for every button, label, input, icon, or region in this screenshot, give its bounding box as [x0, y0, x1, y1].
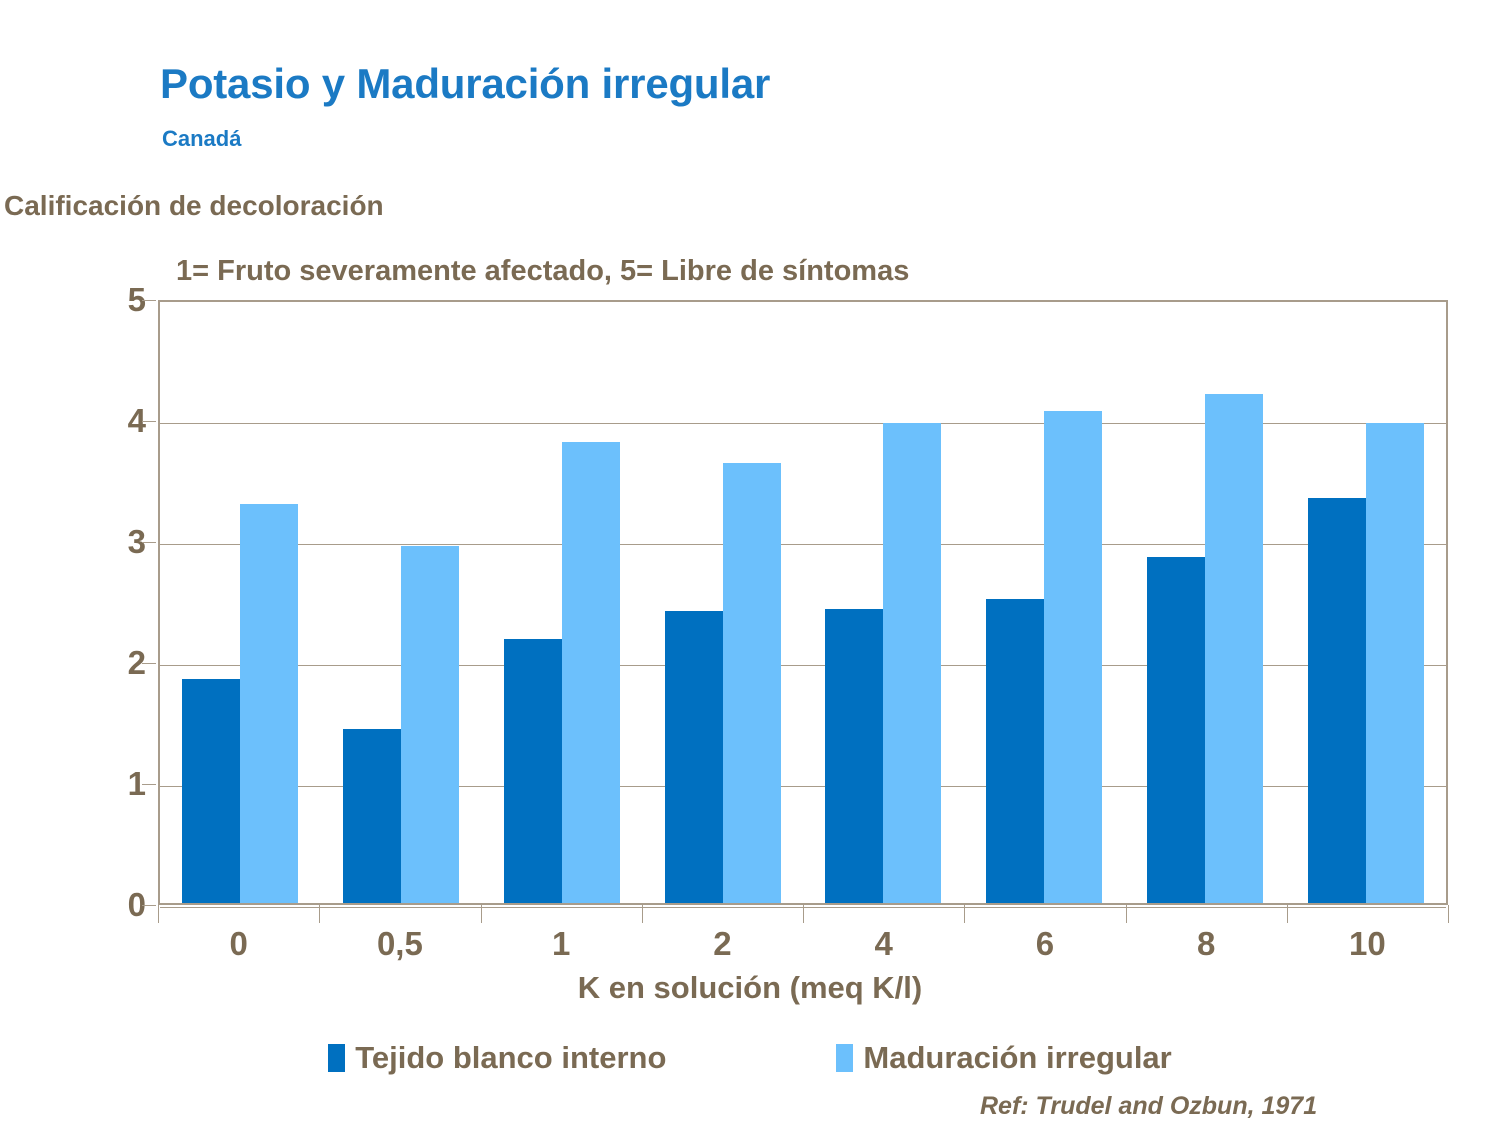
chart-slide: Potasio y Maduración irregular Canadá Ca… — [0, 0, 1500, 1126]
y-tick-label: 5 — [92, 281, 146, 319]
x-tick-mark — [964, 905, 965, 923]
page-subtitle: Canadá — [162, 126, 241, 152]
y-axis-labels: 543210 — [88, 300, 146, 905]
x-axis-title: K en solución (meq K/l) — [0, 970, 1500, 1006]
x-tick-mark — [319, 905, 320, 923]
x-tick-label: 2 — [642, 925, 803, 971]
x-tick-mark — [642, 905, 643, 923]
x-tick-label: 0,5 — [319, 925, 480, 971]
chart-legend: Tejido blanco internoMaduración irregula… — [0, 1040, 1500, 1076]
bar-group — [803, 302, 964, 903]
x-tick-label: 1 — [481, 925, 642, 971]
x-tick-label: 4 — [803, 925, 964, 971]
bar[interactable] — [343, 729, 401, 903]
reference-note: Ref: Trudel and Ozbun, 1971 — [980, 1092, 1317, 1121]
x-tick-mark — [1448, 905, 1449, 923]
y-tick-mark — [142, 421, 156, 422]
bar-group — [321, 302, 482, 903]
bar-series-container — [160, 302, 1446, 903]
x-tick-label: 0 — [158, 925, 319, 971]
bar-group — [160, 302, 321, 903]
y-tick-mark — [142, 663, 156, 664]
bar[interactable] — [825, 609, 883, 903]
bar[interactable] — [1366, 423, 1424, 903]
bar[interactable] — [1205, 394, 1263, 903]
bar[interactable] — [401, 546, 459, 903]
bar-group — [1285, 302, 1446, 903]
x-axis-tickmarks — [158, 905, 1448, 923]
plot-wrap — [158, 300, 1448, 905]
legend-swatch-icon — [836, 1044, 853, 1072]
bar[interactable] — [562, 442, 620, 903]
legend-swatch-icon — [328, 1044, 345, 1072]
y-axis-title: Calificación de decoloración — [4, 190, 384, 222]
x-tick-mark — [158, 905, 159, 923]
x-tick-label: 10 — [1287, 925, 1448, 971]
legend-item[interactable]: Maduración irregular — [836, 1040, 1171, 1076]
bar[interactable] — [723, 463, 781, 903]
page-title: Potasio y Maduración irregular — [160, 60, 770, 108]
x-tick-label: 6 — [964, 925, 1125, 971]
y-tick-mark — [142, 784, 156, 785]
bar[interactable] — [504, 639, 562, 903]
bar[interactable] — [240, 504, 298, 903]
legend-item[interactable]: Tejido blanco interno — [328, 1040, 666, 1076]
y-tick-mark — [142, 542, 156, 543]
x-tick-mark — [1287, 905, 1288, 923]
bar-group — [964, 302, 1125, 903]
plot-area — [158, 300, 1448, 905]
bar[interactable] — [1147, 557, 1205, 903]
y-tick-label: 3 — [92, 523, 146, 561]
x-tick-mark — [1126, 905, 1127, 923]
y-tick-label: 0 — [92, 886, 146, 924]
bar[interactable] — [1308, 498, 1366, 903]
bar[interactable] — [986, 599, 1044, 903]
scale-annotation: 1= Fruto severamente afectado, 5= Libre … — [176, 255, 909, 288]
y-tick-label: 4 — [92, 402, 146, 440]
y-tick-label: 1 — [92, 765, 146, 803]
bar-group — [1125, 302, 1286, 903]
x-tick-label: 8 — [1126, 925, 1287, 971]
y-tick-label: 2 — [92, 644, 146, 682]
legend-label: Tejido blanco interno — [355, 1040, 666, 1076]
bar[interactable] — [883, 423, 941, 903]
x-axis-labels: 00,51246810 — [158, 925, 1448, 971]
bar[interactable] — [665, 611, 723, 903]
x-tick-mark — [803, 905, 804, 923]
x-tick-mark — [481, 905, 482, 923]
bar[interactable] — [1044, 411, 1102, 903]
bar-group — [482, 302, 643, 903]
bar[interactable] — [182, 679, 240, 903]
y-tick-mark — [142, 300, 156, 301]
bar-group — [642, 302, 803, 903]
legend-label: Maduración irregular — [863, 1040, 1171, 1076]
y-tick-mark — [142, 905, 156, 906]
